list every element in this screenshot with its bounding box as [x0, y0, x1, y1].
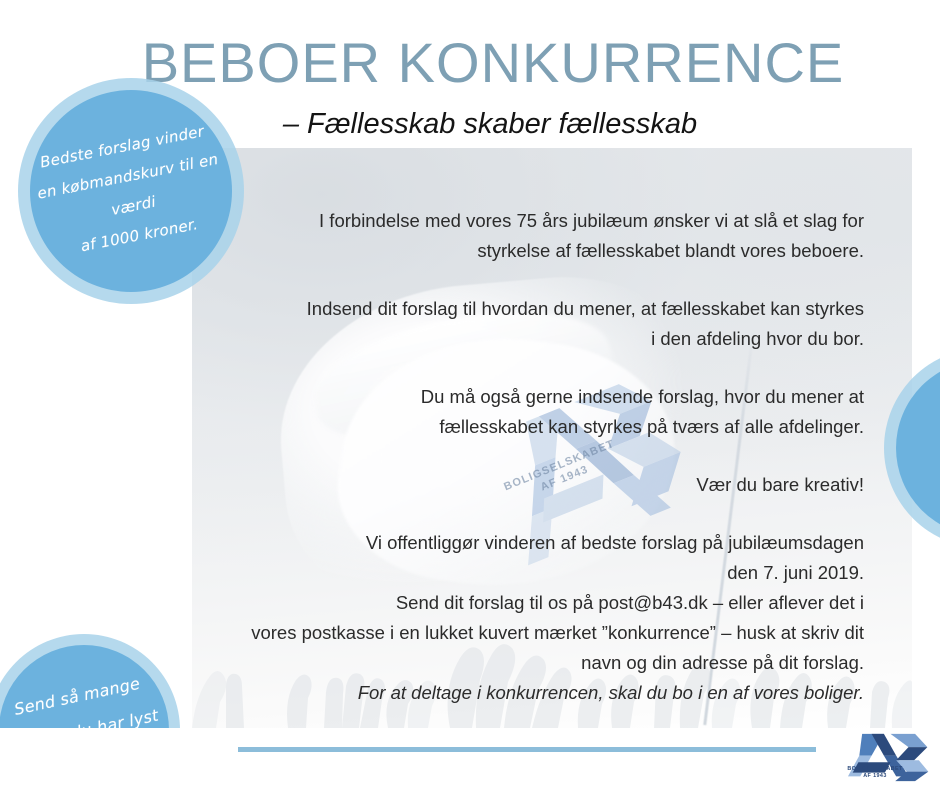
paragraph-line: i den afdeling hvor du bor. [192, 324, 864, 354]
paragraph-announce: Vi offentliggør vinderen af bedste forsl… [192, 528, 864, 588]
paragraph-line: Indsend dit forslag til hvordan du mener… [192, 294, 864, 324]
paragraph-line: styrkelse af fællesskabet blandt vores b… [192, 236, 864, 266]
paragraph-line: I forbindelse med vores 75 års jubilæum … [192, 206, 864, 236]
logo-wordmark: BOLIGSELSKABET AF 1943 [836, 766, 914, 780]
logo-wordmark-line1: BOLIGSELSKABET [836, 766, 914, 773]
paragraph-line: fællesskabet kan styrkes på tværs af all… [192, 412, 864, 442]
paragraph-creative: Vær du bare kreativ! [192, 470, 864, 500]
paragraph-intro: I forbindelse med vores 75 års jubilæum … [192, 206, 864, 266]
body-copy: I forbindelse med vores 75 års jubilæum … [192, 148, 892, 788]
footer-rule [238, 747, 816, 752]
paragraph-howto: Send dit forslag til os på post@b43.dk –… [192, 588, 864, 678]
poster-canvas: BOLIGSELSKABET AF 1943 BEBOER KONKURRENC… [0, 0, 940, 788]
paragraph-across: Du må også gerne indsende forslag, hvor … [192, 382, 864, 442]
paragraph-eligibility: For at deltage i konkurrencen, skal du b… [192, 678, 864, 708]
paragraph-line: den 7. juni 2019. [192, 558, 864, 588]
paragraph-line: Send dit forslag til os på post@b43.dk –… [192, 588, 864, 618]
paragraph-line: Du må også gerne indsende forslag, hvor … [192, 382, 864, 412]
paragraph-line: vores postkasse i en lukket kuvert mærke… [192, 618, 864, 648]
logo-wordmark-line2: AF 1943 [836, 773, 914, 780]
paragraph-line: Vær du bare kreativ! [192, 470, 864, 500]
paragraph-line: navn og din adresse på dit forslag. [192, 648, 864, 678]
paragraph-submit: Indsend dit forslag til hvordan du mener… [192, 294, 864, 354]
paragraph-line: For at deltage i konkurrencen, skal du b… [192, 678, 864, 708]
footer-bar [0, 728, 940, 788]
paragraph-line: Vi offentliggør vinderen af bedste forsl… [192, 528, 864, 558]
badge-prize: Bedste forslag vinder en købmandskurv ti… [18, 78, 244, 304]
